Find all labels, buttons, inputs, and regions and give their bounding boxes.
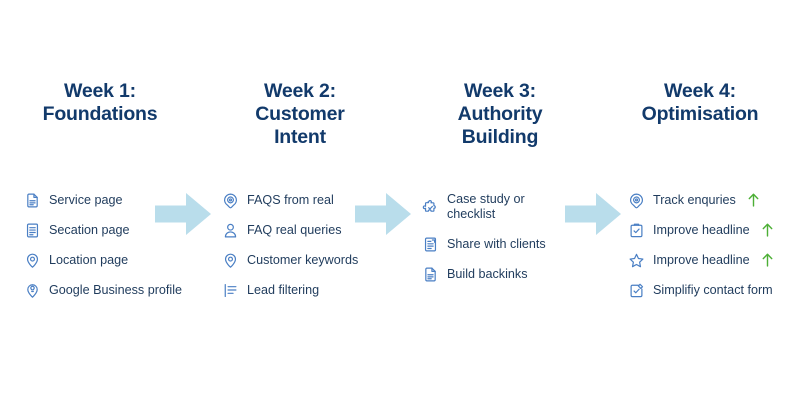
column-title-line: Building	[408, 126, 592, 149]
item-list-week-4: Track enquries Improve headline	[600, 185, 800, 305]
list-item[interactable]: Simplifiy contact form	[628, 275, 800, 305]
list-item[interactable]: Improve headline	[628, 215, 800, 245]
list-item-label: Track enquries	[653, 193, 736, 208]
column-title-line: Week 3:	[408, 80, 592, 103]
list-item-label: Share with clients	[447, 237, 546, 252]
document-lines-icon	[24, 222, 41, 239]
flow-arrow-3-to-4	[565, 192, 621, 236]
list-item[interactable]: Location page	[24, 245, 200, 275]
document-share-icon	[422, 236, 439, 253]
clipboard-check-icon	[628, 222, 645, 239]
flow-arrow-2-to-3	[355, 192, 411, 236]
clipboard-edit-icon	[628, 282, 645, 299]
list-item-label: FAQS from real	[247, 193, 334, 208]
column-title-line: Optimisation	[608, 103, 792, 126]
list-item-label: Lead filtering	[247, 283, 319, 298]
list-item-label: FAQ real queries	[247, 223, 342, 238]
list-item-label: Location page	[49, 253, 128, 268]
list-item-label: Improve headline	[653, 253, 750, 268]
puzzle-checklist-icon	[422, 199, 439, 216]
map-pin-icon	[24, 252, 41, 269]
column-title-line: Foundations	[8, 103, 192, 126]
speech-bubble-target-icon	[222, 192, 239, 209]
list-item-label: Customer keywords	[247, 253, 358, 268]
list-item-label: Secation page	[49, 223, 130, 238]
list-item-label: Service page	[49, 193, 123, 208]
speech-bubble-target-icon	[628, 192, 645, 209]
map-pin-icon	[222, 252, 239, 269]
column-title-line: Week 2:	[208, 80, 392, 103]
column-title-line: Authority	[408, 103, 592, 126]
list-item[interactable]: Customer keywords	[222, 245, 400, 275]
list-item-label: Improve headline	[653, 223, 750, 238]
trend-up-arrow-icon	[761, 252, 774, 268]
column-title-line: Intent	[208, 126, 392, 149]
lightbulb-pin-icon	[24, 282, 41, 299]
list-item[interactable]: Improve headline	[628, 245, 800, 275]
four-week-roadmap-infographic: Week 1: Foundations Service page	[0, 0, 800, 400]
list-item[interactable]: Google Business profile	[24, 275, 200, 305]
list-item-label: Case study or checklist	[447, 192, 525, 222]
week-column-4: Week 4: Optimisation Track enquries	[600, 80, 800, 320]
document-icon	[422, 266, 439, 283]
list-item[interactable]: Track enquries	[628, 185, 800, 215]
column-title-line: Week 4:	[608, 80, 792, 103]
trend-up-arrow-icon	[747, 192, 760, 208]
list-item-label: Build backinks	[447, 267, 528, 282]
document-icon	[24, 192, 41, 209]
flow-arrow-1-to-2	[155, 192, 211, 236]
list-item-label: Simplifiy contact form	[653, 283, 773, 298]
trend-up-arrow-icon	[761, 222, 774, 238]
column-title-week-2: Week 2: Customer Intent	[200, 80, 400, 149]
column-title-line: Customer	[208, 103, 392, 126]
filter-list-icon	[222, 282, 239, 299]
column-title-week-3: Week 3: Authority Building	[400, 80, 600, 149]
star-icon	[628, 252, 645, 269]
list-item-label: Google Business profile	[49, 283, 182, 298]
list-item[interactable]: Lead filtering	[222, 275, 400, 305]
column-title-line: Week 1:	[8, 80, 192, 103]
column-title-week-1: Week 1: Foundations	[0, 80, 200, 126]
person-icon	[222, 222, 239, 239]
column-title-week-4: Week 4: Optimisation	[600, 80, 800, 126]
list-item[interactable]: Build backinks	[422, 259, 600, 289]
